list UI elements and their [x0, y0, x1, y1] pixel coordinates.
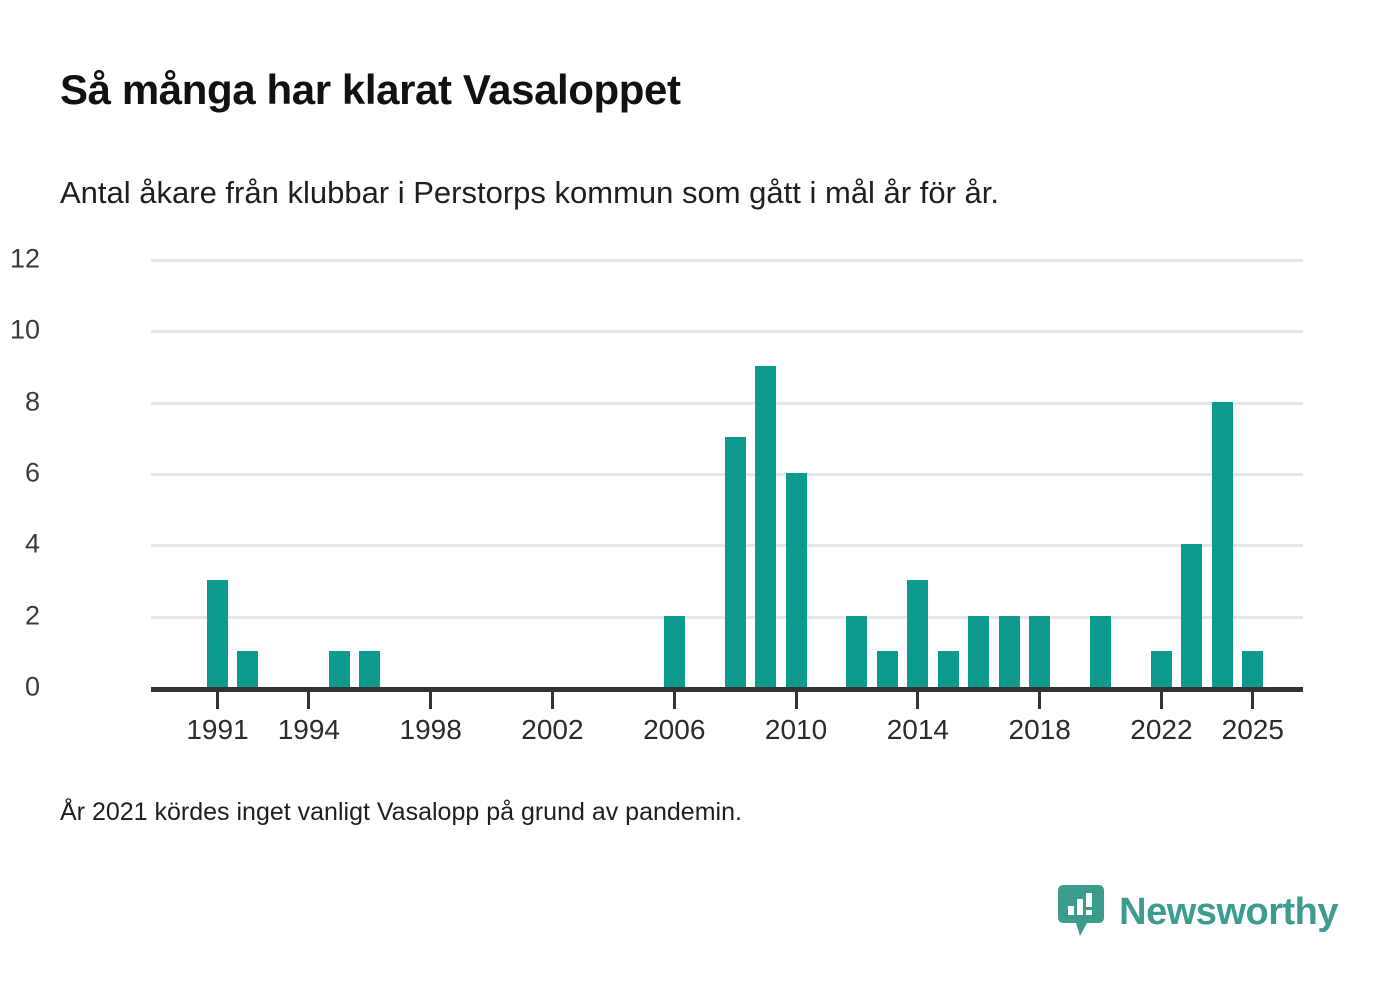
bar: [968, 616, 989, 687]
x-axis-tick: [1160, 692, 1163, 709]
bar: [1151, 651, 1172, 687]
bar: [1090, 616, 1111, 687]
x-axis-tick: [916, 692, 919, 709]
bar: [329, 651, 350, 687]
bar: [999, 616, 1020, 687]
speech-bubble-bar-chart-icon: [1057, 884, 1105, 940]
x-axis-tick: [551, 692, 554, 709]
x-axis-label: 1998: [399, 714, 461, 746]
x-axis-tick: [216, 692, 219, 709]
x-axis-label: 2010: [765, 714, 827, 746]
bar: [664, 616, 685, 687]
bar: [207, 580, 228, 687]
x-axis-tick: [429, 692, 432, 709]
bar: [846, 616, 867, 687]
bar: [1242, 651, 1263, 687]
newsworthy-logo[interactable]: Newsworthy: [1057, 884, 1338, 940]
x-axis-tick: [795, 692, 798, 709]
gridline: [151, 330, 1303, 333]
x-axis-label: 2018: [1008, 714, 1070, 746]
bar: [237, 651, 258, 687]
x-axis-label: 2002: [521, 714, 583, 746]
x-axis-tick: [1251, 692, 1254, 709]
bar: [877, 651, 898, 687]
bar: [359, 651, 380, 687]
bar: [938, 651, 959, 687]
x-axis-line: [151, 687, 1303, 692]
page-title: Så många har klarat Vasaloppet: [60, 66, 681, 114]
bar: [1181, 544, 1202, 687]
y-axis-label: 4: [25, 529, 40, 560]
logo-wordmark: Newsworthy: [1119, 891, 1338, 934]
y-axis-label: 6: [25, 458, 40, 489]
bar: [1212, 402, 1233, 687]
bar: [907, 580, 928, 687]
bar: [725, 437, 746, 687]
gridline: [151, 259, 1303, 262]
x-axis-label: 1991: [186, 714, 248, 746]
bar-chart: 0246810121991199419982002200620102014201…: [151, 259, 1303, 687]
y-axis-label: 2: [25, 600, 40, 631]
chart-footnote: År 2021 kördes inget vanligt Vasalopp på…: [60, 798, 742, 827]
x-axis-tick: [1038, 692, 1041, 709]
y-axis-label: 10: [10, 315, 40, 346]
y-axis-label: 12: [10, 244, 40, 275]
y-axis-label: 8: [25, 386, 40, 417]
gridline: [151, 402, 1303, 405]
x-axis-label: 2025: [1222, 714, 1284, 746]
x-axis-label: 2014: [887, 714, 949, 746]
bar: [755, 366, 776, 687]
x-axis-label: 2006: [643, 714, 705, 746]
x-axis-label: 2022: [1130, 714, 1192, 746]
x-axis-tick: [307, 692, 310, 709]
x-axis-label: 1994: [278, 714, 340, 746]
x-axis-tick: [673, 692, 676, 709]
bar: [786, 473, 807, 687]
y-axis-label: 0: [25, 672, 40, 703]
chart-page: Så många har klarat Vasaloppet Antal åka…: [0, 0, 1400, 1000]
page-subtitle: Antal åkare från klubbar i Perstorps kom…: [60, 175, 999, 211]
bar: [1029, 616, 1050, 687]
